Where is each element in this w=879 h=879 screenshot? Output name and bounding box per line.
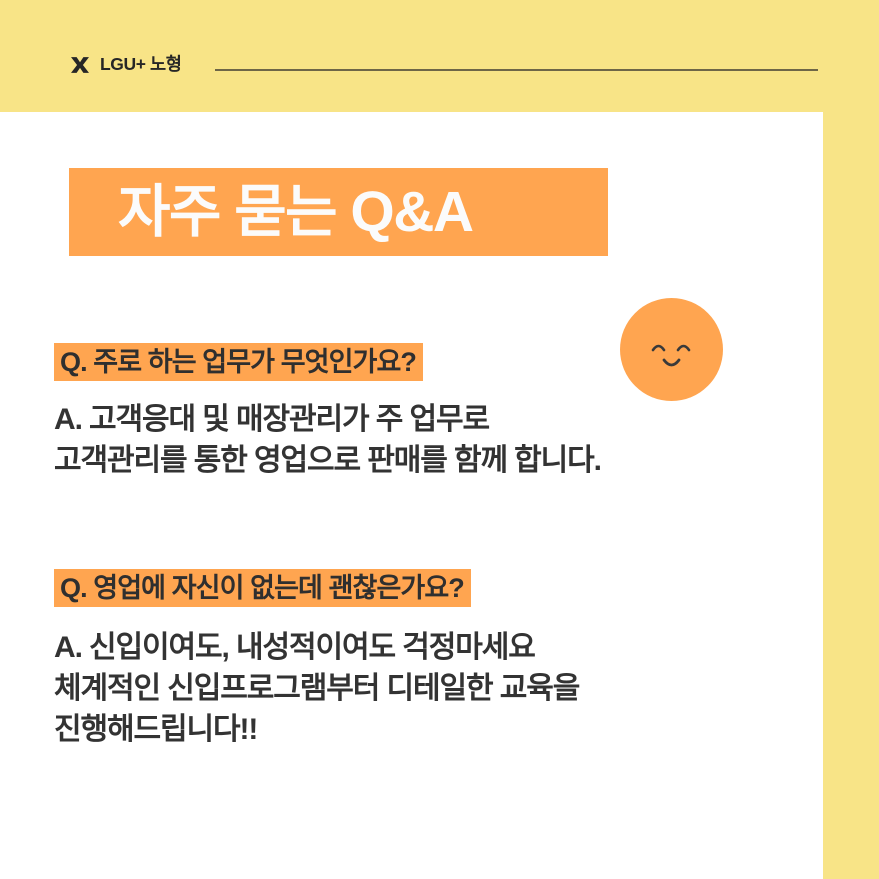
qa-item-1: Q. 주로 하는 업무가 무엇인가요? A. 고객응대 및 매장관리가 주 업무… [54, 343, 601, 481]
answer-1: A. 고객응대 및 매장관리가 주 업무로 고객관리를 통한 영업으로 판매를 … [54, 399, 601, 481]
page-title: 자주 묻는 Q&A [118, 184, 473, 241]
qa-card: LGU+ 노형 자주 묻는 Q&A Q. 주로 하는 업무가 무엇인가요? A.… [0, 0, 879, 879]
header-divider [215, 69, 818, 71]
brand-name: LGU+ 노형 [100, 56, 181, 74]
title-banner: 자주 묻는 Q&A [69, 168, 608, 256]
brand-lockup: LGU+ 노형 [69, 52, 181, 78]
lgu-x-mark-icon [69, 54, 91, 76]
question-2: Q. 영업에 자신이 없는데 괜찮은가요? [54, 569, 471, 607]
answer-2: A. 신입이여도, 내성적이여도 걱정마세요 체계적인 신입프로그램부터 디테일… [54, 627, 579, 750]
header-band: LGU+ 노형 [0, 0, 879, 112]
question-1: Q. 주로 하는 업무가 무엇인가요? [54, 343, 423, 381]
qa-item-2: Q. 영업에 자신이 없는데 괜찮은가요? A. 신입이여도, 내성적이여도 걱… [54, 569, 579, 750]
smiling-face-icon [620, 298, 723, 401]
